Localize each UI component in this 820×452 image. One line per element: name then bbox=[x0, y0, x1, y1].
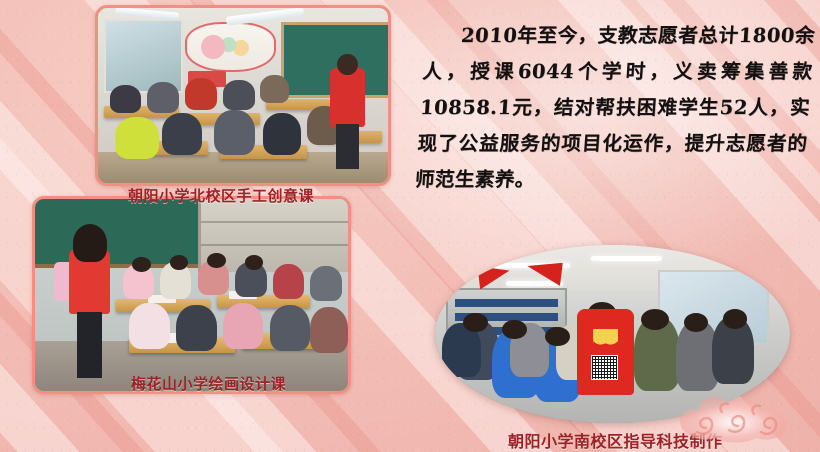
photo-handcraft-scene bbox=[98, 8, 388, 183]
photo-drawing-class[interactable] bbox=[32, 196, 351, 394]
photo-tech-making[interactable] bbox=[435, 245, 790, 423]
summary-paragraph: 2010年至今，支教志愿者总计1800余人，授课6044个学时，义卖筹集善款10… bbox=[414, 18, 817, 198]
photo-drawing-scene bbox=[35, 199, 348, 391]
slide-canvas: 朝阳小学北校区手工创意课 梅花山小学绘画设计课 朝阳小学南校区指导科技制作 20… bbox=[0, 0, 820, 452]
caption-drawing-class: 梅花山小学绘画设计课 bbox=[131, 373, 286, 394]
caption-handcraft-class: 朝阳小学北校区手工创意课 bbox=[128, 185, 314, 206]
caption-tech-making: 朝阳小学南校区指导科技制作 bbox=[508, 428, 723, 452]
photo-handcraft-class[interactable] bbox=[95, 5, 391, 186]
